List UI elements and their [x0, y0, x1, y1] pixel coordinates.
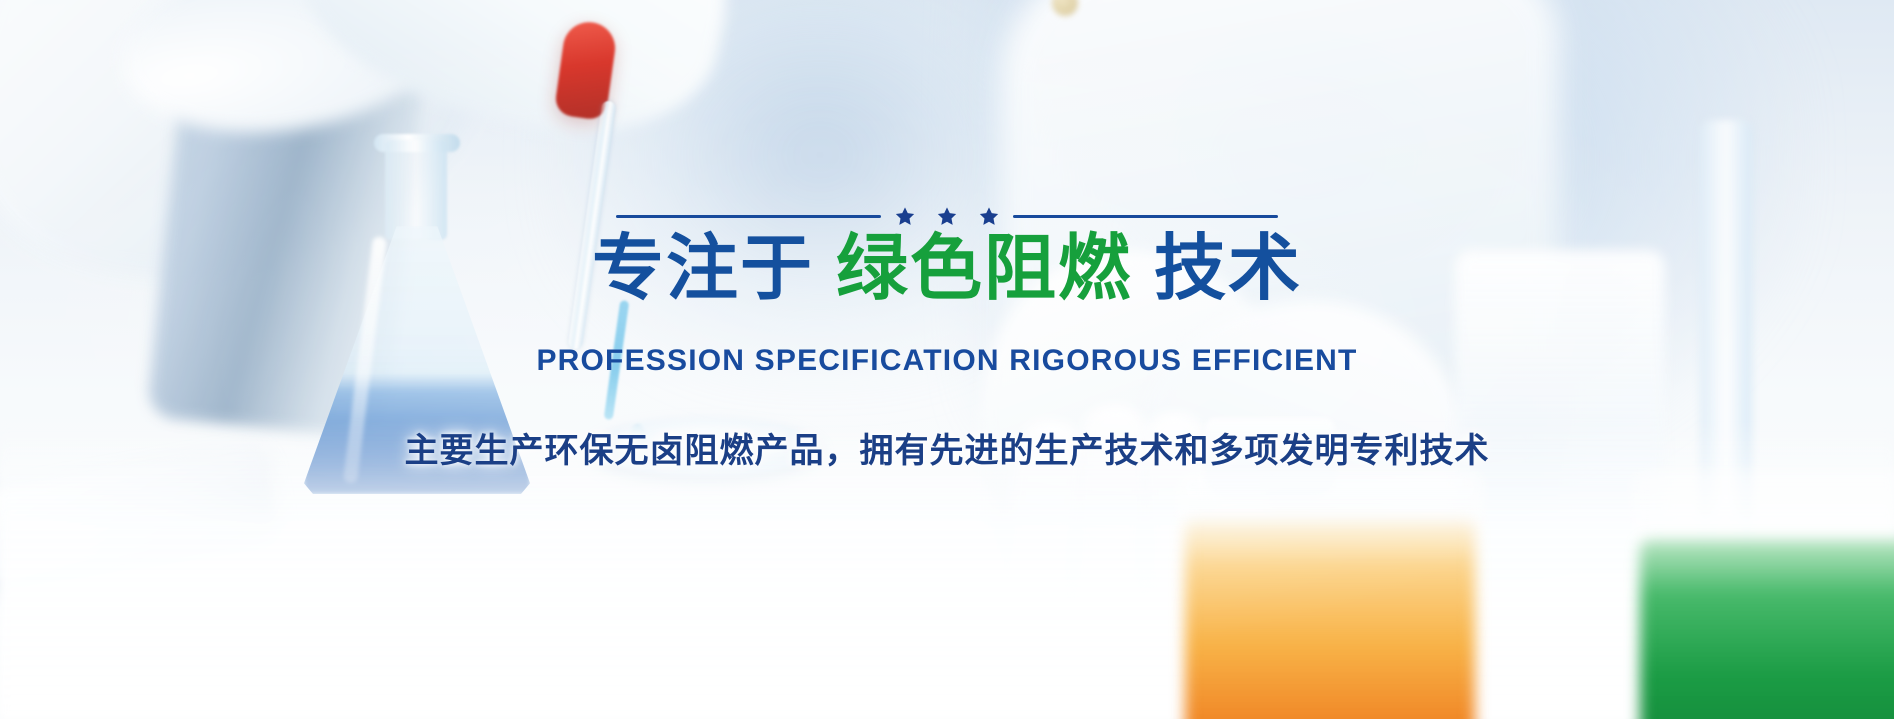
headline: 专注于绿色阻燃技术: [592, 233, 1302, 305]
star-icon: [937, 206, 957, 226]
tagline-chinese: 主要生产环保无卤阻燃产品，拥有先进的生产技术和多项发明专利技术: [405, 423, 1490, 472]
star-icon: [979, 206, 999, 226]
star-group: [895, 206, 999, 226]
divider-rule-right: [1013, 215, 1278, 218]
star-icon: [895, 206, 915, 226]
headline-part-1: 专注于: [592, 229, 814, 309]
hero-banner: 专注于绿色阻燃技术 PROFESSION SPECIFICATION RIGOR…: [0, 0, 1894, 719]
divider-rule-left: [616, 215, 881, 218]
subtitle-english: PROFESSION SPECIFICATION RIGOROUS EFFICI…: [536, 344, 1357, 378]
banner-content: 专注于绿色阻燃技术 PROFESSION SPECIFICATION RIGOR…: [0, 0, 1894, 719]
headline-part-3: 技术: [1154, 229, 1302, 309]
headline-part-2: 绿色阻燃: [836, 229, 1132, 309]
ornament-divider: [616, 206, 1278, 226]
